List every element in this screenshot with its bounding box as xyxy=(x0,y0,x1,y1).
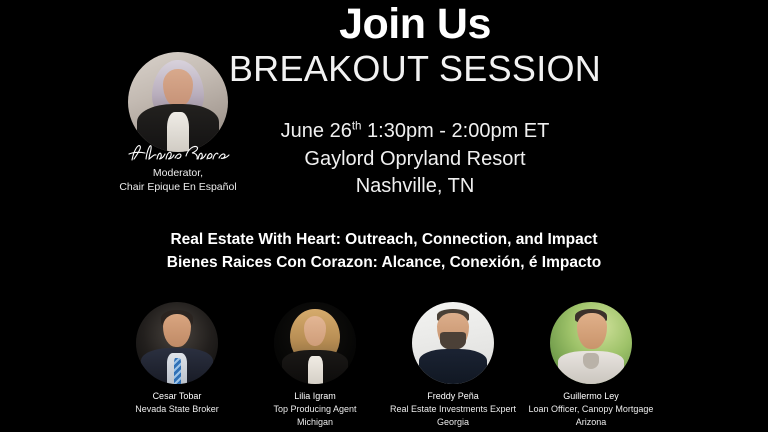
session-title-english: Real Estate With Heart: Outreach, Connec… xyxy=(64,228,704,251)
moderator-caption: Moderator, Chair Epique En Español xyxy=(88,166,268,194)
panelist-avatar xyxy=(550,302,632,384)
moderator-block: Moderator, Chair Epique En Español xyxy=(88,52,268,194)
event-city: Nashville, TN xyxy=(215,173,615,201)
panelist-lilia-igram: Lilia Igram Top Producing Agent Michigan xyxy=(246,302,384,428)
session-title-spanish: Bienes Raices Con Corazon: Alcance, Cone… xyxy=(64,251,704,274)
event-time: 1:30pm - 2:00pm ET xyxy=(361,120,549,142)
moderator-signature xyxy=(88,140,268,164)
event-poster: Join Us BREAKOUT SESSION June 26th 1:30p… xyxy=(0,0,768,432)
page-title: Join Us xyxy=(210,2,620,47)
panelist-shirt-shape xyxy=(308,356,323,384)
panelist-list: Cesar Tobar Nevada State Broker Lilia Ig… xyxy=(108,302,660,428)
panelist-role: Top Producing Agent xyxy=(246,403,384,416)
panelist-avatar xyxy=(136,302,218,384)
signature-script-icon xyxy=(126,140,231,164)
panelist-location: Georgia xyxy=(384,416,522,429)
event-datetime: June 26th 1:30pm - 2:00pm ET xyxy=(215,118,615,146)
panelist-role: Real Estate Investments Expert xyxy=(384,403,522,416)
panelist-location: Arizona xyxy=(522,416,660,429)
panelist-shirt-shape xyxy=(419,349,488,384)
session-title: Real Estate With Heart: Outreach, Connec… xyxy=(64,228,704,275)
panelist-freddy-pena: Freddy Peña Real Estate Investments Expe… xyxy=(384,302,522,428)
headline-block: Join Us BREAKOUT SESSION xyxy=(210,2,620,89)
panelist-beard-shape xyxy=(440,332,466,350)
panelist-name: Freddy Peña xyxy=(384,390,522,403)
panelist-tie-shape xyxy=(174,358,181,384)
panelist-location: Michigan xyxy=(246,416,384,429)
panelist-guillermo-ley: Guillermo Ley Loan Officer, Canopy Mortg… xyxy=(522,302,660,428)
panelist-role: Nevada State Broker xyxy=(108,403,246,416)
event-venue: Gaylord Opryland Resort xyxy=(215,146,615,174)
event-date: June 26 xyxy=(281,120,352,142)
panelist-name: Lilia Igram xyxy=(246,390,384,403)
moderator-avatar xyxy=(128,52,228,152)
panelist-name: Guillermo Ley xyxy=(522,390,660,403)
panelist-name: Cesar Tobar xyxy=(108,390,246,403)
event-details: June 26th 1:30pm - 2:00pm ET Gaylord Opr… xyxy=(215,118,615,201)
moderator-photo-wrap xyxy=(128,52,228,152)
moderator-affiliation: Chair Epique En Español xyxy=(88,180,268,194)
panelist-avatar xyxy=(274,302,356,384)
panelist-cesar-tobar: Cesar Tobar Nevada State Broker xyxy=(108,302,246,416)
moderator-role: Moderator, xyxy=(88,166,268,180)
panelist-face-shape xyxy=(577,313,607,348)
panelist-avatar xyxy=(412,302,494,384)
panelist-role: Loan Officer, Canopy Mortgage xyxy=(522,403,660,416)
subtitle-breakout-session: BREAKOUT SESSION xyxy=(210,49,620,89)
